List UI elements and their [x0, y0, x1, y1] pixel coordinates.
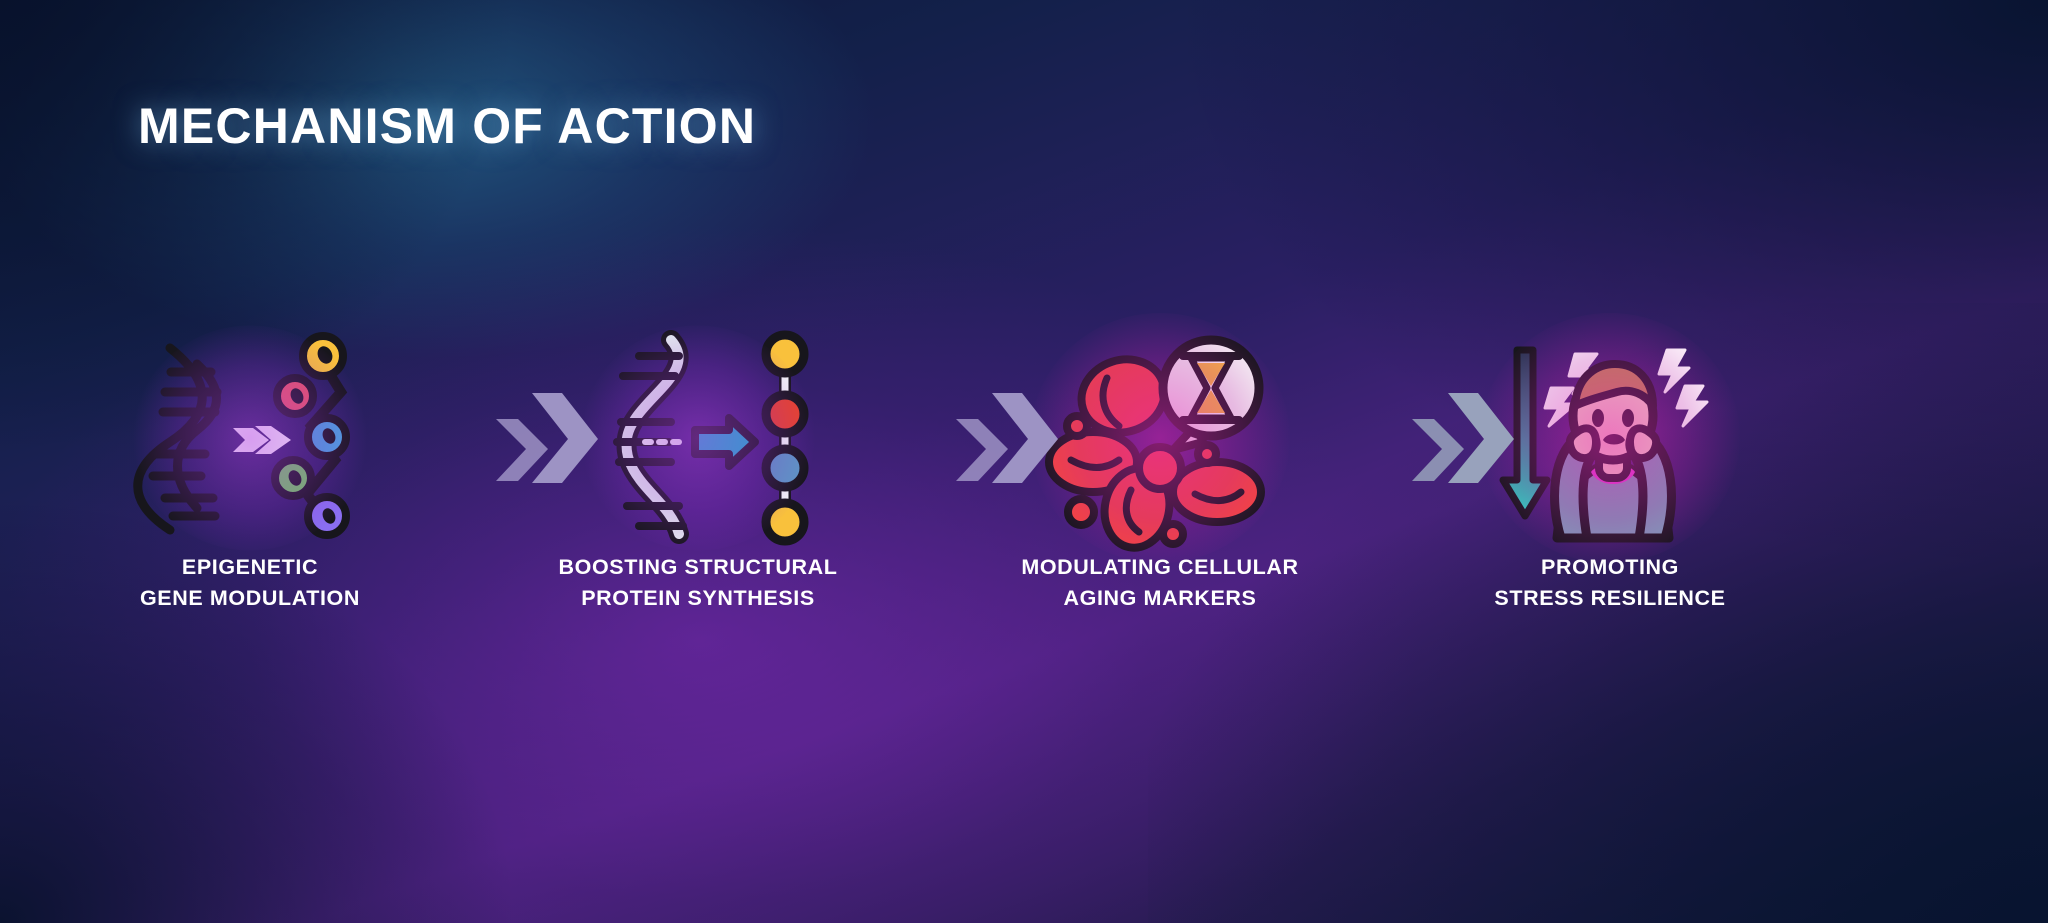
chevron-separator-2	[952, 385, 1062, 490]
blood-cell-small-3	[1198, 445, 1216, 463]
double-chevron-right-icon	[1412, 393, 1514, 483]
step-1-label: EPIGENETIC GENE MODULATION	[30, 552, 470, 614]
blood-cell-small-4	[1163, 524, 1183, 544]
page-title: MECHANISM OF ACTION	[138, 97, 756, 155]
dna-gene-modulation-icon	[135, 330, 365, 545]
dna-helix	[138, 348, 217, 530]
hand-right	[1630, 428, 1656, 458]
colored-gene-beads	[275, 336, 346, 535]
blood-cell-4	[1173, 462, 1261, 522]
blood-cell-small-1	[1067, 416, 1087, 436]
amino-acid-chain	[766, 335, 804, 541]
step-3-label: MODULATING CELLULAR AGING MARKERS	[940, 552, 1380, 614]
cellular-aging-icon	[1045, 330, 1275, 545]
residue-red	[766, 395, 804, 433]
infographic-canvas: MECHANISM OF ACTION	[0, 0, 2048, 923]
residue-blue	[766, 449, 804, 487]
bolt-right-2	[1677, 386, 1707, 426]
double-chevron-right-icon	[956, 393, 1058, 483]
eye-left	[1592, 409, 1604, 427]
cyan-arrow	[695, 418, 755, 466]
dna-strand	[617, 340, 683, 534]
step-1: EPIGENETIC GENE MODULATION	[100, 330, 400, 620]
white-double-arrow	[233, 426, 291, 454]
chevron-separator-3	[1408, 385, 1518, 490]
step-2-label: BOOSTING STRUCTURAL PROTEIN SYNTHESIS	[478, 552, 918, 614]
eye-right	[1622, 409, 1634, 427]
double-chevron-right-icon	[496, 393, 598, 483]
protein-synthesis-icon	[583, 330, 813, 545]
step-4-label: PROMOTING STRESS RESILIENCE	[1390, 552, 1830, 614]
hand-left	[1570, 428, 1596, 458]
chevron-separator-1	[492, 385, 602, 490]
blood-cell-small-2	[1068, 499, 1094, 525]
residue-yellow-bottom	[766, 503, 804, 541]
stress-resilience-icon	[1495, 330, 1725, 545]
residue-yellow-top	[766, 335, 804, 373]
